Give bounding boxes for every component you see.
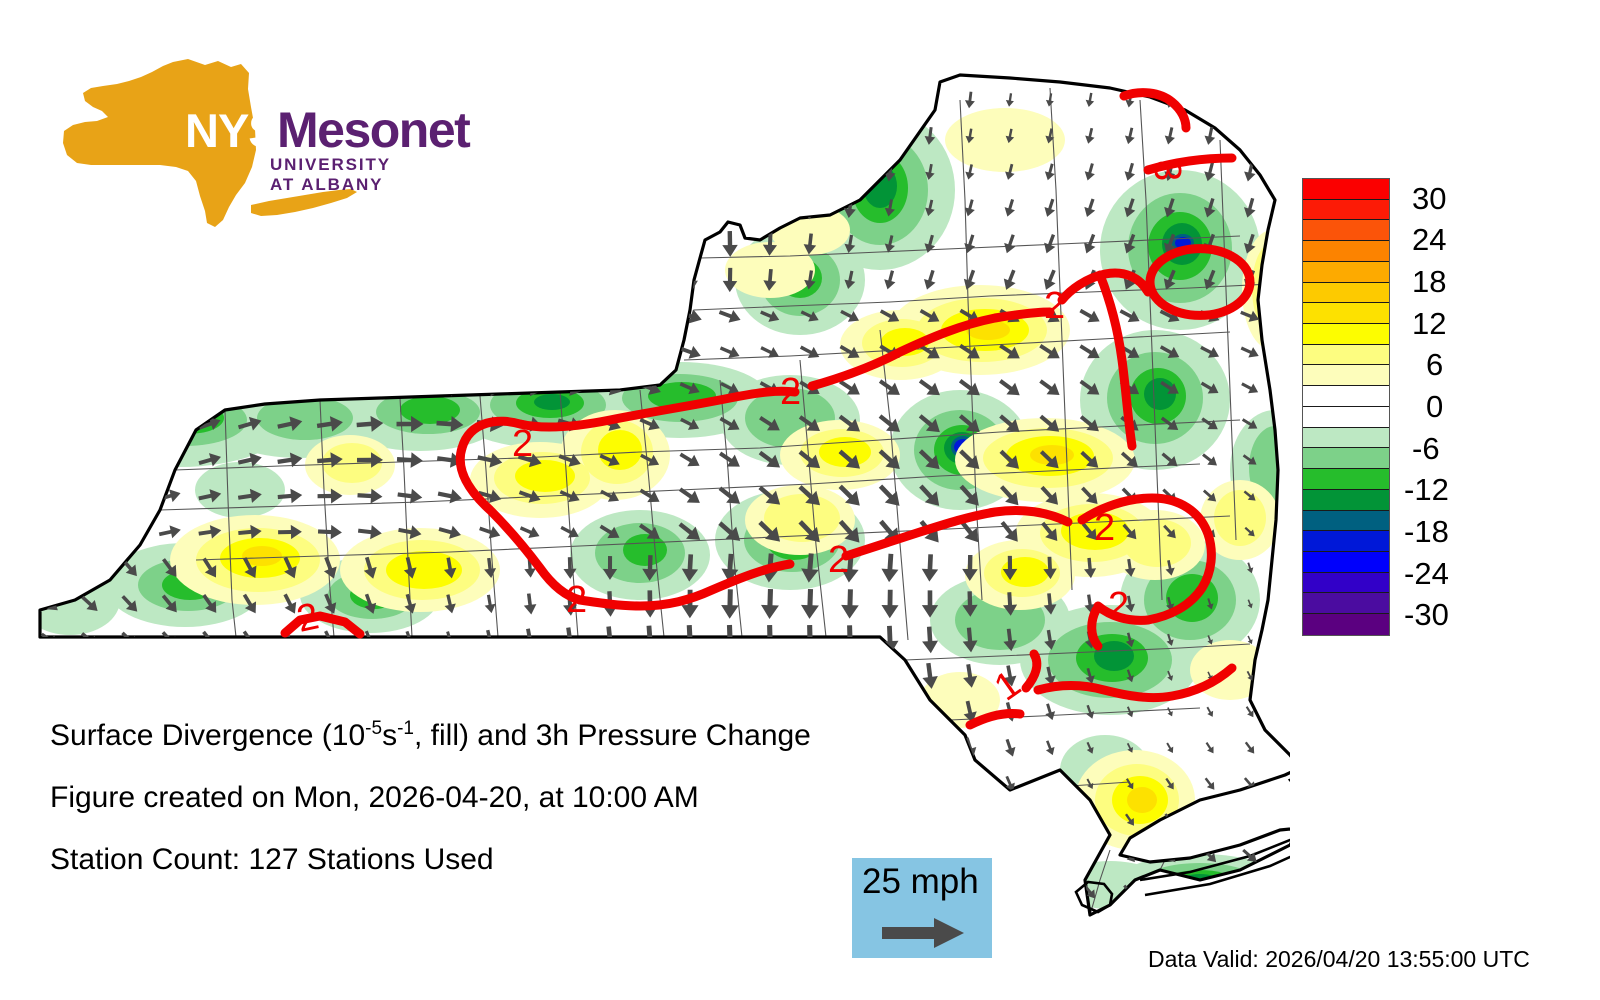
wind-arrow — [357, 158, 384, 186]
wind-arrow — [719, 120, 741, 152]
wind-arrow — [158, 378, 181, 398]
colorbar-band — [1303, 573, 1389, 594]
wind-arrow — [317, 230, 343, 258]
wind-arrow — [158, 414, 182, 434]
wind-arrow — [555, 83, 585, 118]
wind-arrow — [120, 343, 139, 360]
wind-arrow — [78, 665, 101, 687]
wind-arrow — [843, 124, 858, 148]
wind-arrow — [319, 89, 340, 110]
wind-arrow — [475, 83, 505, 116]
wind-arrow — [1278, 918, 1290, 939]
wind-arrow — [1283, 489, 1290, 503]
colorbar-band — [1303, 490, 1389, 511]
wind-arrow — [317, 195, 342, 222]
wind-arrow — [317, 265, 343, 294]
wind-arrow — [435, 227, 464, 261]
wind-arrow — [961, 773, 979, 795]
wind-arrow — [161, 271, 178, 289]
wind-arrow — [84, 924, 96, 933]
wind-arrow — [81, 92, 98, 109]
wind-arrow — [1044, 813, 1056, 827]
wind-arrow — [120, 379, 141, 397]
wind-arrow — [638, 192, 662, 225]
wind-arrow — [240, 665, 261, 687]
wind-arrow — [1001, 918, 1019, 938]
wind-arrow — [1003, 848, 1017, 863]
wind-arrow — [473, 911, 507, 945]
colorbar-band — [1303, 407, 1389, 428]
wind-arrow — [435, 343, 465, 362]
wind-arrow — [85, 239, 95, 249]
wind-arrow — [1282, 453, 1290, 468]
divergence-colorbar — [1302, 178, 1390, 636]
colorbar-band — [1303, 469, 1389, 490]
wind-arrow — [639, 660, 661, 692]
wind-arrow — [43, 924, 56, 933]
wind-arrow — [319, 124, 342, 147]
wind-arrow — [597, 191, 622, 225]
wind-arrow — [1286, 599, 1290, 609]
wind-arrow — [317, 916, 343, 940]
wind-arrow — [79, 487, 101, 505]
wind-arrow — [513, 911, 546, 946]
caption-title-b: s — [382, 719, 397, 752]
wind-speed-legend: 25 mph — [852, 858, 992, 958]
wind-arrow — [475, 155, 505, 190]
wind-arrow — [279, 918, 302, 938]
colorbar-band — [1303, 428, 1389, 449]
wind-arrow — [124, 166, 136, 178]
wind-arrow — [435, 306, 466, 326]
wind-arrow — [1279, 882, 1290, 903]
wind-arrow — [760, 660, 781, 692]
wind-arrow — [41, 91, 60, 109]
wind-arrow — [202, 164, 217, 179]
wind-arrow — [515, 342, 545, 362]
wind-arrow — [321, 665, 340, 686]
colorbar-tick: 18 — [1412, 264, 1446, 300]
wind-arrow — [45, 238, 55, 249]
wind-arrow — [315, 341, 344, 363]
wind-arrow — [125, 202, 136, 213]
wind-arrow — [42, 128, 59, 145]
wind-arrow — [396, 121, 424, 151]
wind-arrow — [441, 665, 458, 687]
svg-text:2: 2 — [566, 579, 587, 621]
wind-arrow — [162, 93, 177, 107]
wind-arrow — [1239, 917, 1262, 938]
wind-arrow — [1282, 233, 1290, 255]
wind-arrow — [720, 157, 740, 187]
wind-arrow — [557, 227, 583, 261]
wind-arrow — [721, 194, 739, 222]
wind-arrow — [240, 920, 260, 936]
wind-arrow — [242, 128, 259, 144]
colorbar-tick: -24 — [1404, 556, 1449, 592]
svg-text:2: 2 — [1044, 285, 1065, 327]
wind-arrow — [356, 264, 384, 295]
wind-arrow — [435, 155, 465, 188]
caption-exp-1: -5 — [365, 718, 382, 739]
wind-arrow — [239, 233, 260, 256]
wind-arrow — [40, 488, 61, 505]
wind-arrow — [241, 163, 259, 182]
wind-arrow — [42, 381, 58, 396]
wind-arrow — [84, 202, 95, 214]
wind-arrow — [276, 341, 304, 363]
wind-arrow — [200, 269, 220, 290]
wind-arrow — [840, 661, 860, 692]
wind-arrow — [123, 272, 137, 287]
wind-arrow — [1279, 308, 1290, 325]
wind-arrow — [1282, 704, 1290, 720]
wind-arrow — [276, 377, 304, 398]
wind-arrow — [201, 234, 219, 253]
caption-title-c: , fill) and 3h Pressure Change — [414, 719, 811, 752]
colorbar-band — [1303, 552, 1389, 573]
wind-arrow — [720, 660, 741, 692]
wind-arrow — [678, 119, 702, 152]
colorbar-band — [1303, 386, 1389, 407]
wind-arrow — [1285, 634, 1290, 646]
wind-arrow — [278, 231, 302, 257]
caption-station-count: Station Count: 127 Stations Used — [50, 843, 950, 877]
wind-arrow — [557, 263, 582, 297]
wind-arrow — [435, 85, 464, 116]
colorbar-band — [1303, 324, 1389, 345]
colorbar-band — [1303, 614, 1389, 635]
wind-arrow — [598, 227, 622, 260]
wind-arrow — [556, 155, 584, 190]
wind-arrow — [480, 664, 499, 689]
colorbar-band — [1303, 241, 1389, 262]
wind-arrow — [1002, 883, 1018, 901]
caption-title-a: Surface Divergence (10 — [50, 719, 365, 752]
wind-arrow — [1239, 882, 1261, 903]
wind-arrow — [237, 305, 263, 326]
wind-arrow — [160, 307, 180, 325]
wind-arrow — [118, 665, 141, 687]
colorbar-tick: 6 — [1426, 347, 1443, 383]
wind-arrow — [84, 274, 96, 287]
wind-arrow — [1204, 91, 1217, 109]
wind-arrow — [594, 911, 626, 946]
wind-arrow — [199, 665, 221, 687]
wind-arrow — [599, 661, 621, 692]
wind-arrow — [356, 229, 384, 260]
wind-arrow — [1003, 811, 1018, 828]
wind-arrow — [802, 123, 818, 149]
wind-arrow — [237, 377, 264, 398]
wind-arrow — [121, 308, 138, 324]
caption-title: Surface Divergence (10-5s-1, fill) and 3… — [50, 718, 950, 753]
wind-arrow — [599, 264, 622, 296]
wind-arrow — [83, 165, 96, 179]
wind-arrow — [674, 911, 705, 946]
colorbar-tick: -12 — [1404, 472, 1449, 508]
colorbar-band — [1303, 365, 1389, 386]
wind-arrow — [316, 378, 345, 399]
wind-arrow — [278, 267, 303, 294]
wind-arrow — [361, 666, 378, 686]
wind-arrow — [1199, 917, 1221, 938]
wind-arrow — [355, 378, 384, 398]
wind-arrow — [1040, 918, 1059, 938]
right-arrow-icon — [882, 916, 966, 950]
wind-arrow — [1282, 161, 1290, 183]
wind-arrow — [556, 119, 585, 154]
wind-arrow — [476, 227, 505, 262]
wind-arrow — [554, 911, 587, 946]
wind-arrow — [239, 268, 261, 292]
svg-text:2: 2 — [828, 539, 849, 581]
wind-arrow — [514, 83, 545, 118]
wind-arrow — [396, 379, 425, 397]
wind-arrow — [124, 237, 137, 250]
wind-arrow — [801, 86, 819, 114]
wind-arrow — [243, 93, 258, 107]
wind-arrow — [715, 912, 744, 945]
wind-arrow — [880, 661, 900, 690]
wind-arrow — [396, 192, 425, 224]
wind-arrow — [634, 911, 666, 946]
wind-arrow — [122, 92, 138, 108]
wind-arrow — [119, 415, 141, 434]
wind-arrow — [402, 666, 418, 685]
wind-arrow — [1244, 91, 1257, 110]
wind-arrow — [123, 129, 137, 143]
wind-arrow — [475, 343, 504, 361]
wind-arrow — [39, 557, 61, 579]
wind-arrow — [279, 161, 300, 183]
colorbar-band — [1303, 283, 1389, 304]
wind-arrow — [43, 164, 58, 179]
wind-arrow — [197, 378, 222, 399]
wind-arrow — [1159, 917, 1181, 938]
colorbar-band — [1303, 200, 1389, 221]
wind-arrow — [41, 416, 59, 432]
wind-arrow — [1119, 917, 1140, 938]
wind-arrow — [396, 263, 425, 296]
wind-arrow — [1284, 526, 1290, 538]
wind-arrow — [515, 307, 545, 326]
wind-arrow — [1280, 380, 1290, 396]
wind-arrow — [203, 129, 216, 142]
wind-arrow — [396, 157, 425, 188]
colorbar-tick: 12 — [1412, 306, 1446, 342]
wind-arrow — [596, 119, 624, 153]
wind-arrow — [798, 914, 823, 942]
wind-arrow — [1243, 126, 1257, 146]
wind-arrow — [517, 263, 544, 297]
wind-arrow — [516, 227, 544, 261]
wind-arrow — [1283, 126, 1290, 147]
wind-arrow — [555, 342, 585, 363]
wind-arrow — [281, 91, 299, 109]
wind-arrow — [762, 195, 777, 220]
wind-arrow — [280, 665, 300, 687]
colorbar-band — [1303, 511, 1389, 532]
wind-arrow — [680, 193, 701, 224]
wind-arrow — [435, 120, 465, 152]
wind-arrow — [202, 921, 218, 934]
wind-arrow — [1043, 776, 1056, 792]
wind-arrow — [44, 310, 56, 321]
wind-arrow — [883, 125, 897, 147]
wind-arrow — [355, 341, 385, 363]
wind-arrow — [559, 661, 580, 690]
wind-arrow — [1280, 810, 1290, 830]
wind-arrow — [44, 201, 57, 214]
wind-arrow — [395, 913, 426, 943]
wind-arrow — [318, 159, 342, 184]
wind-arrow — [800, 660, 821, 691]
colorbar-tick: -18 — [1404, 514, 1449, 550]
wind-arrow — [475, 307, 505, 326]
wind-arrow — [1080, 918, 1100, 939]
colorbar-tick: -30 — [1404, 597, 1449, 633]
wind-arrow — [961, 810, 978, 831]
colorbar-band — [1303, 262, 1389, 283]
wind-arrow — [595, 341, 624, 362]
wind-arrow — [280, 126, 300, 146]
wind-arrow — [315, 305, 344, 328]
wind-arrow — [555, 306, 586, 327]
wind-arrow — [1284, 90, 1290, 110]
wind-arrow — [802, 160, 817, 185]
colorbar-band — [1303, 593, 1389, 614]
wind-arrow — [1041, 883, 1058, 901]
svg-text:2: 2 — [512, 423, 533, 465]
wind-arrow — [515, 119, 545, 154]
wind-arrow — [79, 451, 100, 469]
wind-arrow — [240, 198, 260, 219]
colorbar-band — [1303, 345, 1389, 366]
wind-arrow — [883, 89, 897, 112]
wind-arrow — [1240, 810, 1259, 829]
wind-arrow — [276, 305, 304, 327]
wind-arrow — [1083, 812, 1097, 827]
wind-arrow — [1284, 669, 1290, 683]
wind-arrow — [395, 342, 425, 362]
wind-arrow — [557, 191, 584, 225]
wind-arrow — [718, 83, 742, 116]
wind-arrow — [159, 342, 181, 361]
wind-arrow — [679, 156, 702, 189]
wind-arrow — [761, 158, 778, 185]
wind-arrow — [677, 83, 702, 117]
colorbar-band — [1303, 531, 1389, 552]
wind-arrow — [595, 305, 625, 326]
wind-arrow — [1281, 416, 1290, 432]
wind-arrow — [202, 199, 219, 216]
wind-legend-label: 25 mph — [862, 862, 979, 902]
colorbar-band — [1303, 448, 1389, 469]
wind-arrow — [198, 342, 222, 363]
wind-arrow — [83, 309, 98, 323]
wind-arrow — [639, 228, 661, 260]
caption-exp-2: -1 — [397, 718, 414, 739]
wind-arrow — [164, 130, 177, 143]
wind-arrow — [637, 119, 663, 153]
svg-text:2: 2 — [1108, 585, 1129, 627]
wind-arrow — [237, 341, 263, 363]
colorbar-tick-labels: 3024181260-6-12-18-24-30 — [1404, 160, 1524, 660]
wind-arrow — [1281, 269, 1290, 291]
wind-arrow — [596, 83, 625, 118]
wind-arrow — [1286, 563, 1290, 573]
wind-arrow — [635, 305, 664, 327]
wind-arrow — [516, 191, 544, 226]
wind-arrow — [638, 155, 663, 188]
wind-arrow — [118, 523, 142, 541]
wind-arrow — [356, 193, 383, 223]
wind-arrow — [759, 84, 780, 115]
wind-arrow — [1201, 811, 1219, 829]
wind-arrow — [45, 275, 54, 285]
wind-arrow — [203, 93, 217, 106]
wind-arrow — [681, 229, 700, 258]
colorbar-band — [1303, 303, 1389, 324]
wind-arrow — [199, 306, 222, 326]
wind-arrow — [640, 265, 660, 295]
wind-arrow — [159, 665, 182, 687]
wind-arrow — [279, 196, 302, 220]
colorbar-tick: 0 — [1426, 389, 1443, 425]
wind-arrow — [357, 123, 383, 149]
wind-arrow — [436, 263, 465, 297]
wind-arrow — [81, 380, 99, 396]
wind-arrow — [1282, 197, 1290, 219]
wind-arrow — [756, 913, 783, 944]
colorbar-band — [1303, 179, 1389, 200]
caption-created: Figure created on Mon, 2026-04-20, at 10… — [50, 781, 950, 815]
wind-arrow — [476, 263, 504, 298]
wind-arrow — [356, 915, 385, 942]
colorbar-tick: 30 — [1412, 181, 1446, 217]
wind-arrow — [39, 523, 61, 540]
wind-arrow — [636, 83, 663, 117]
wind-arrow — [760, 121, 779, 150]
figure-caption: Surface Divergence (10-5s-1, fill) and 3… — [50, 718, 950, 905]
wind-arrow — [162, 236, 178, 252]
svg-text:2: 2 — [780, 371, 801, 413]
svg-text:3: 3 — [1146, 160, 1188, 181]
wind-arrow — [396, 228, 425, 261]
wind-arrow — [636, 341, 664, 362]
wind-arrow — [164, 923, 177, 933]
wind-arrow — [515, 155, 544, 190]
wind-arrow — [163, 201, 177, 215]
wind-arrow — [118, 487, 142, 505]
wind-arrow — [355, 305, 385, 328]
wind-arrow — [679, 660, 700, 692]
wind-arrow — [79, 523, 102, 541]
wind-arrow — [434, 912, 467, 944]
wind-arrow — [78, 556, 101, 579]
wind-arrow — [124, 924, 135, 932]
data-valid-timestamp: Data Valid: 2026/04/20 13:55:00 UTC — [1148, 946, 1530, 973]
wind-arrow — [40, 452, 59, 469]
colorbar-tick: 24 — [1412, 222, 1446, 258]
colorbar-tick: -6 — [1412, 431, 1440, 467]
wind-arrow — [80, 415, 100, 432]
wind-arrow — [1280, 344, 1290, 361]
wind-arrow — [1043, 848, 1058, 864]
wind-arrow — [82, 128, 97, 143]
wind-arrow — [520, 662, 540, 689]
